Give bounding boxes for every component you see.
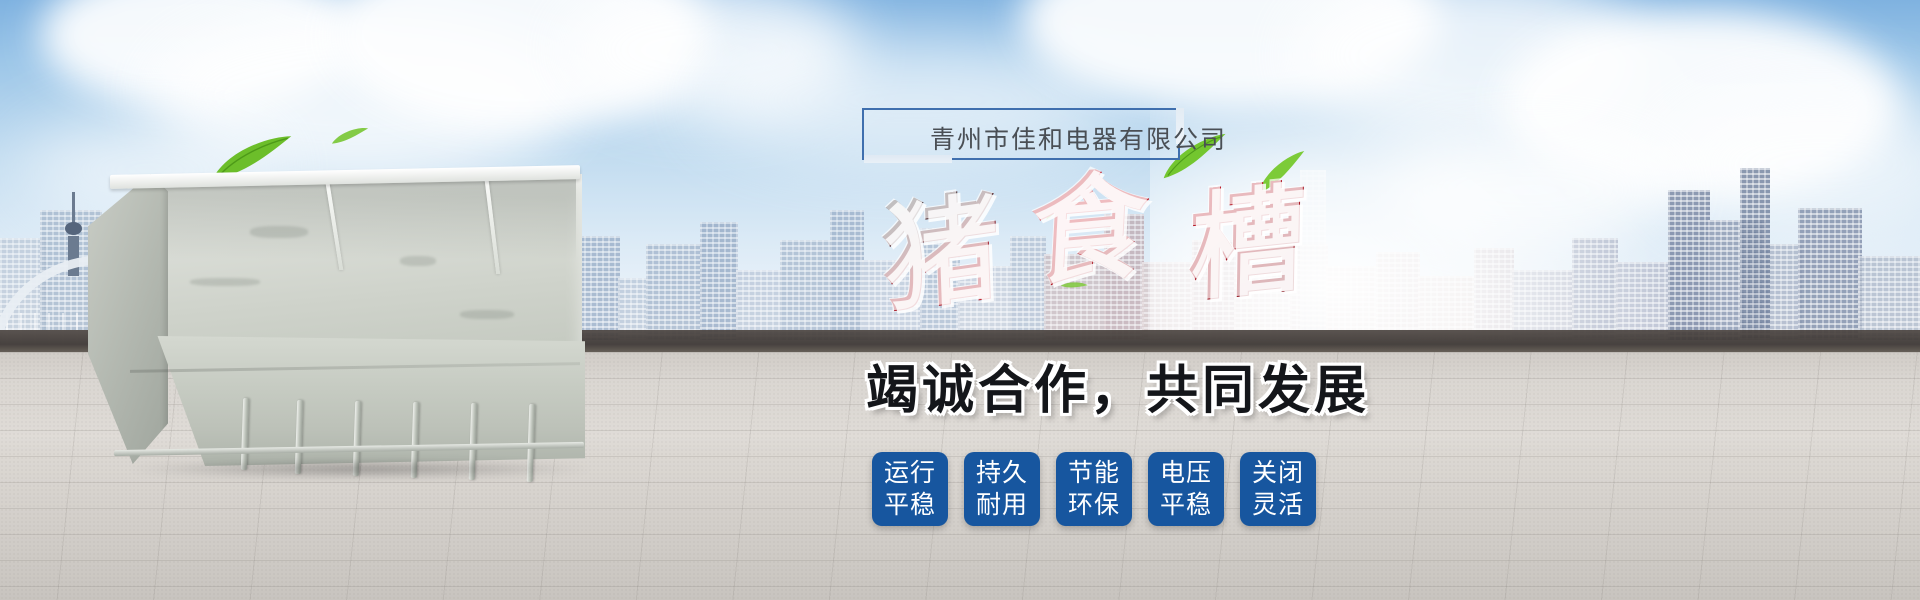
badge-line-2: 耐用 [976, 489, 1028, 521]
product-image-pig-feeding-trough [70, 160, 590, 480]
badge-line-1: 关闭 [1252, 457, 1304, 489]
frame-gap-bottom-left [864, 155, 952, 163]
badge-line-2: 环保 [1068, 489, 1120, 521]
badge-line-1: 节能 [1068, 457, 1120, 489]
badge-line-1: 运行 [884, 457, 936, 489]
promo-banner: 青州市佳和电器有限公司 猪 食 槽 竭诚合作，共同发展 运行 平稳 持久 耐用 … [0, 0, 1920, 600]
badge-line-1: 持久 [976, 457, 1028, 489]
feature-badge[interactable]: 持久 耐用 [964, 452, 1040, 526]
title-char-3: 槽 [1187, 177, 1306, 308]
feature-badge[interactable]: 运行 平稳 [872, 452, 948, 526]
subtitle-slogan: 竭诚合作，共同发展 [866, 348, 1370, 423]
title-char-1: 猪 [881, 185, 1002, 320]
badge-line-2: 平稳 [1160, 489, 1212, 521]
title-char-2: 食 [1027, 164, 1151, 293]
badge-line-2: 平稳 [884, 489, 936, 521]
badge-line-1: 电压 [1160, 457, 1212, 489]
company-name: 青州市佳和电器有限公司 [930, 120, 1290, 156]
badge-line-2: 灵活 [1252, 489, 1304, 521]
page-title: 猪 食 槽 [880, 168, 1440, 298]
feature-badge[interactable]: 节能 环保 [1056, 452, 1132, 526]
feature-badge[interactable]: 关闭 灵活 [1240, 452, 1316, 526]
feature-badge-list: 运行 平稳 持久 耐用 节能 环保 电压 平稳 关闭 灵活 [872, 452, 1316, 526]
feature-badge[interactable]: 电压 平稳 [1148, 452, 1224, 526]
